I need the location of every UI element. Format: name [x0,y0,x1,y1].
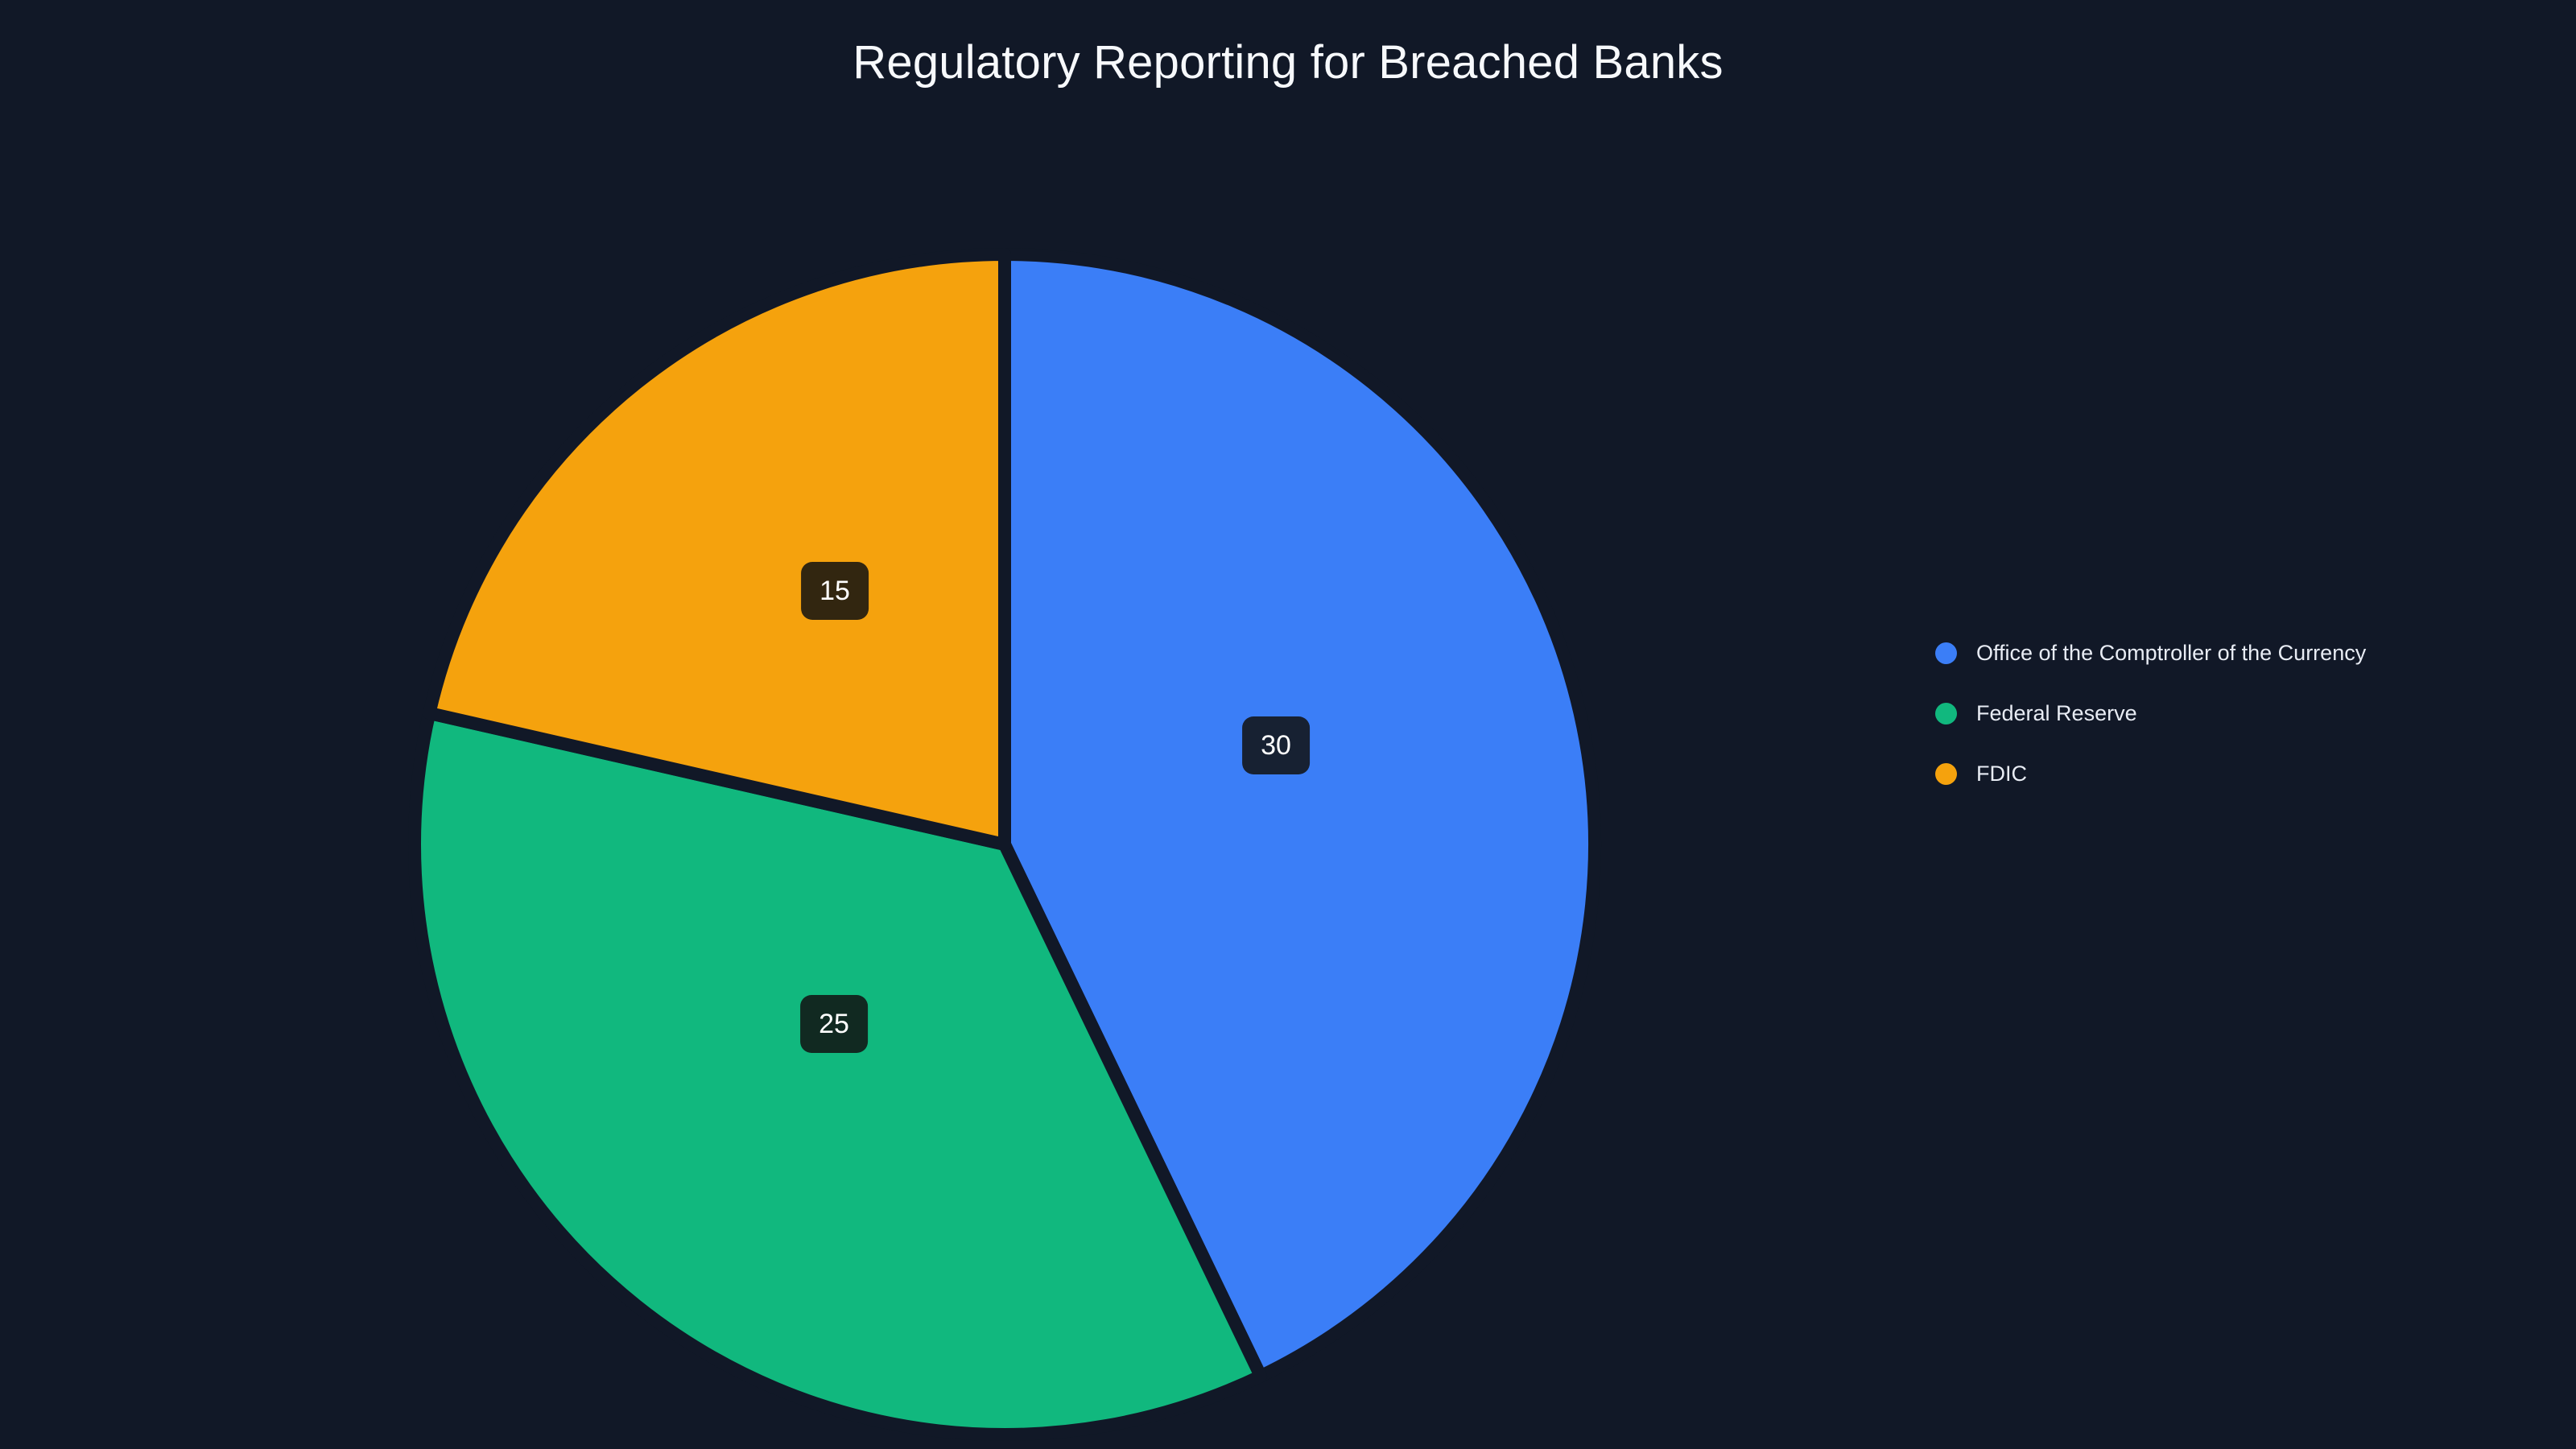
legend-item[interactable]: Federal Reserve [1935,701,2366,725]
legend-item[interactable]: FDIC [1935,762,2366,786]
pie-chart: Regulatory Reporting for Breached Banks … [0,0,2576,1449]
pie-plot-area: 302515 [0,0,1932,1449]
legend-circle-marker-icon [1935,703,1957,724]
legend-circle-marker-icon [1935,642,1957,664]
chart-legend: Office of the Comptroller of the Currenc… [1935,641,2366,786]
pie-svg [0,0,1932,1449]
legend-item[interactable]: Office of the Comptroller of the Currenc… [1935,641,2366,665]
legend-item-label: Federal Reserve [1976,703,2137,724]
legend-item-label: Office of the Comptroller of the Currenc… [1976,642,2366,664]
pie-slice-group [415,254,1595,1435]
legend-circle-marker-icon [1935,763,1957,785]
legend-item-label: FDIC [1976,763,2027,785]
